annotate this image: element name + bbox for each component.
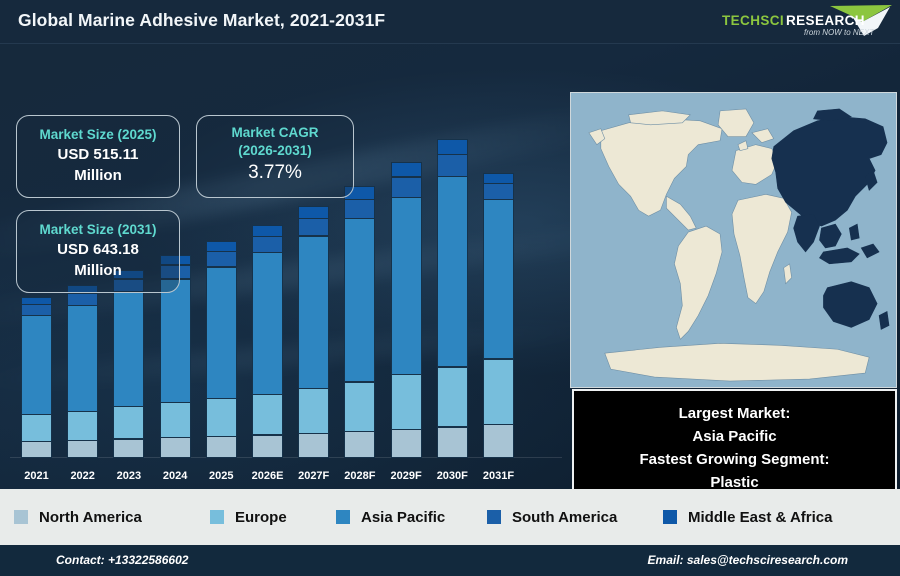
card-kicker: Market Size (2025) xyxy=(17,126,179,144)
bar-segment-europe[interactable] xyxy=(160,402,191,438)
bar-segment-asia-pacific[interactable] xyxy=(21,315,52,414)
bar-segment-europe[interactable] xyxy=(252,394,283,436)
legend-swatch-icon xyxy=(487,510,501,524)
card-unit: Million xyxy=(17,165,179,186)
card-kicker: Market Size (2031) xyxy=(17,221,179,239)
bar-segment-middle-east-africa[interactable] xyxy=(437,139,468,155)
bar-segment-asia-pacific[interactable] xyxy=(483,199,514,359)
svg-text:from NOW to NEXT: from NOW to NEXT xyxy=(804,28,875,37)
card-value: USD 643.18 xyxy=(17,239,179,260)
bar-segment-europe[interactable] xyxy=(67,411,98,441)
main-stage: 202120222023202420252026E2027F2028F2029F… xyxy=(0,44,900,489)
card-kicker-period: (2026-2031) xyxy=(197,142,353,160)
bar-segment-north-america[interactable] xyxy=(252,435,283,458)
world-map-icon xyxy=(571,93,896,387)
legend-item-asia-pacific[interactable]: Asia Pacific xyxy=(336,509,445,526)
bar-segment-north-america[interactable] xyxy=(344,431,375,458)
infographic-root: Global Marine Adhesive Market, 2021-2031… xyxy=(0,0,900,576)
bar-segment-south-america[interactable] xyxy=(252,236,283,253)
contact-email[interactable]: Email: sales@techsciresearch.com xyxy=(648,553,848,567)
legend-label: Asia Pacific xyxy=(361,509,445,526)
bar-segment-europe[interactable] xyxy=(21,414,52,442)
bar-segment-south-america[interactable] xyxy=(344,199,375,219)
bar-segment-middle-east-africa[interactable] xyxy=(298,206,329,219)
header-bar: Global Marine Adhesive Market, 2021-2031… xyxy=(0,0,900,44)
bar-segment-middle-east-africa[interactable] xyxy=(206,241,237,252)
bar-2025[interactable] xyxy=(206,241,237,458)
svg-text:RESEARCH: RESEARCH xyxy=(786,13,865,28)
bar-segment-south-america[interactable] xyxy=(437,154,468,176)
fastest-growing-segment-value: Plastic xyxy=(710,471,758,489)
bar-segment-south-america[interactable] xyxy=(206,251,237,267)
bar-segment-south-america[interactable] xyxy=(483,183,514,200)
bar-2031F[interactable] xyxy=(483,174,514,458)
legend-swatch-icon xyxy=(210,510,224,524)
bar-segment-middle-east-africa[interactable] xyxy=(252,225,283,237)
contact-phone[interactable]: Contact: +13322586602 xyxy=(56,553,188,567)
card-kicker: Market CAGR xyxy=(197,124,353,142)
legend-item-north-america[interactable]: North America xyxy=(14,509,142,526)
bar-segment-north-america[interactable] xyxy=(67,440,98,458)
legend-item-middle-east-africa[interactable]: Middle East & Africa xyxy=(663,509,832,526)
stat-card-market-size-2031: Market Size (2031) USD 643.18 Million xyxy=(16,210,180,293)
bar-segment-south-america[interactable] xyxy=(298,218,329,236)
page-title: Global Marine Adhesive Market, 2021-2031… xyxy=(18,10,385,31)
bar-segment-south-america[interactable] xyxy=(67,293,98,306)
bar-segment-north-america[interactable] xyxy=(113,439,144,458)
bar-segment-europe[interactable] xyxy=(483,359,514,425)
card-value: USD 515.11 xyxy=(17,144,179,165)
legend-label: Europe xyxy=(235,509,287,526)
bar-2028F[interactable] xyxy=(344,186,375,458)
fastest-growing-segment-label: Fastest Growing Segment: xyxy=(639,448,829,471)
bar-2023[interactable] xyxy=(113,271,144,459)
largest-market-label: Largest Market: xyxy=(679,402,791,425)
x-axis-label-2031F: 2031F xyxy=(471,470,527,482)
card-unit: Million xyxy=(17,260,179,281)
bar-segment-europe[interactable] xyxy=(437,367,468,428)
bar-2021[interactable] xyxy=(21,298,52,458)
stat-card-market-cagr: Market CAGR (2026-2031) 3.77% xyxy=(196,115,354,198)
svg-text:TECHSCI: TECHSCI xyxy=(722,13,784,28)
bar-segment-asia-pacific[interactable] xyxy=(113,292,144,407)
legend-swatch-icon xyxy=(663,510,677,524)
legend-item-south-america[interactable]: South America xyxy=(487,509,617,526)
chart-legend: North AmericaEuropeAsia PacificSouth Ame… xyxy=(0,489,900,545)
bar-2030F[interactable] xyxy=(437,139,468,458)
bar-2026E[interactable] xyxy=(252,225,283,458)
bar-segment-north-america[interactable] xyxy=(437,427,468,458)
bar-segment-asia-pacific[interactable] xyxy=(298,236,329,389)
bar-segment-europe[interactable] xyxy=(391,374,422,429)
bar-segment-asia-pacific[interactable] xyxy=(437,176,468,367)
legend-swatch-icon xyxy=(336,510,350,524)
bar-segment-asia-pacific[interactable] xyxy=(67,305,98,411)
bar-segment-north-america[interactable] xyxy=(391,429,422,458)
key-insights-box: Largest Market: Asia Pacific Fastest Gro… xyxy=(572,389,897,489)
bar-2029F[interactable] xyxy=(391,163,422,458)
legend-label: North America xyxy=(39,509,142,526)
bar-segment-asia-pacific[interactable] xyxy=(160,279,191,403)
card-value: 3.77% xyxy=(197,160,353,186)
largest-market-value: Asia Pacific xyxy=(692,425,776,448)
legend-label: South America xyxy=(512,509,617,526)
bar-segment-asia-pacific[interactable] xyxy=(391,197,422,375)
legend-swatch-icon xyxy=(14,510,28,524)
bar-segment-europe[interactable] xyxy=(206,398,237,436)
bar-2027F[interactable] xyxy=(298,207,329,458)
techsci-research-logo: TECHSCI RESEARCH from NOW to NEXT xyxy=(712,2,894,42)
footer-bar: Contact: +13322586602 Email: sales@techs… xyxy=(0,545,900,576)
world-map-panel xyxy=(570,92,897,388)
bar-segment-asia-pacific[interactable] xyxy=(252,252,283,394)
bar-segment-north-america[interactable] xyxy=(483,424,514,458)
legend-label: Middle East & Africa xyxy=(688,509,832,526)
legend-item-europe[interactable]: Europe xyxy=(210,509,287,526)
bar-segment-north-america[interactable] xyxy=(160,437,191,458)
bar-segment-middle-east-africa[interactable] xyxy=(391,162,422,177)
bar-2022[interactable] xyxy=(67,286,98,458)
bar-segment-north-america[interactable] xyxy=(206,436,237,458)
bar-segment-north-america[interactable] xyxy=(298,433,329,458)
stat-card-market-size-2025: Market Size (2025) USD 515.11 Million xyxy=(16,115,180,198)
bar-segment-europe[interactable] xyxy=(298,388,329,434)
bar-segment-europe[interactable] xyxy=(344,382,375,432)
bar-segment-south-america[interactable] xyxy=(391,177,422,198)
bar-segment-asia-pacific[interactable] xyxy=(344,218,375,383)
bar-segment-europe[interactable] xyxy=(113,406,144,439)
bar-segment-asia-pacific[interactable] xyxy=(206,267,237,399)
bar-segment-south-america[interactable] xyxy=(21,304,52,316)
bar-segment-north-america[interactable] xyxy=(21,441,52,458)
